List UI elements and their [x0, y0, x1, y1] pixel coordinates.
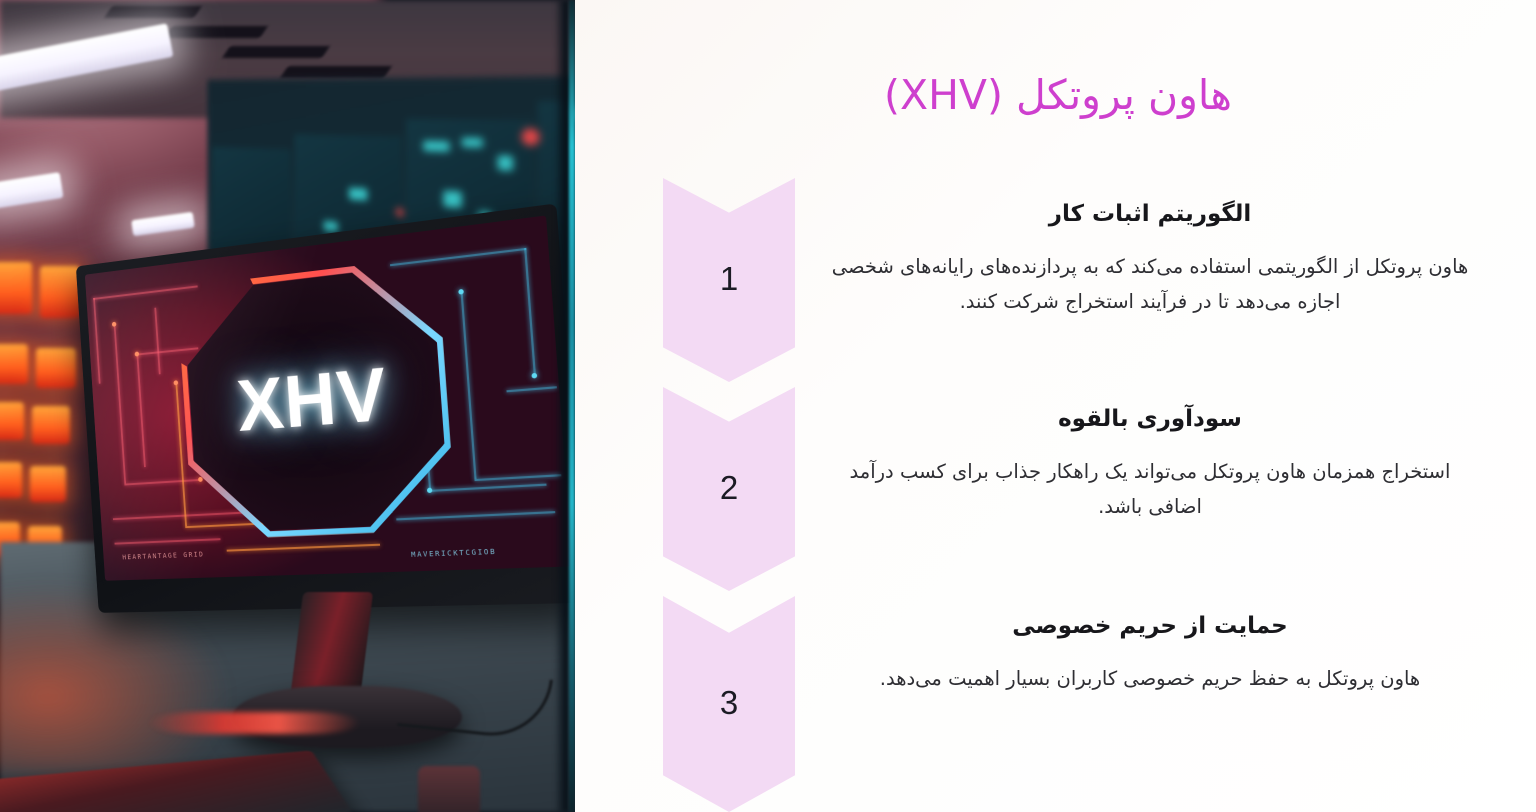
wall-data-blob [498, 155, 513, 170]
control-room-photo: XHV HEARTANTAGE GRID MAVERICKTCGIOB [0, 0, 575, 812]
circuit-trace [524, 248, 536, 375]
circuit-trace [124, 479, 200, 486]
slide-root: XHV HEARTANTAGE GRID MAVERICKTCGIOB هاون… [0, 0, 1536, 812]
content-panel: هاون پروتکل (XHV) 1 2 3 الگوریتم اثبات ک… [575, 0, 1536, 812]
ticker-cell [40, 266, 80, 318]
hero-image-panel: XHV HEARTANTAGE GRID MAVERICKTCGIOB [0, 0, 575, 812]
step-heading-2: سودآوری بالقوه [830, 405, 1470, 435]
circuit-trace [136, 353, 145, 467]
circuit-trace [93, 298, 100, 384]
wall-data-blob [423, 141, 449, 152]
step-number-3: 3 [720, 686, 738, 719]
circuit-pad [112, 322, 117, 327]
step-body-3: هاون پروتکل به حفظ حریم خصوصی کاربران بس… [830, 662, 1470, 697]
circuit-trace [227, 544, 380, 552]
ticker-cell [0, 462, 22, 498]
step-heading-3: حمایت از حریم خصوصی [830, 612, 1470, 642]
circuit-trace [396, 511, 555, 520]
step-chevron-1[interactable]: 1 [663, 178, 795, 382]
photo-right-shadow [555, 0, 569, 812]
desk-red-reflection [148, 712, 360, 734]
step-heading-1: الگوریتم اثبات کار [830, 200, 1470, 230]
monitor-screen: XHV HEARTANTAGE GRID MAVERICKTCGIOB [85, 215, 573, 580]
circuit-trace [115, 538, 221, 544]
circuit-trace [429, 484, 546, 492]
step-block-3: حمایت از حریم خصوصی هاون پروتکل به حفظ ح… [830, 612, 1470, 697]
xhv-logo: XHV [235, 351, 390, 448]
wall-data-blob [462, 138, 483, 148]
circuit-trace [136, 347, 198, 355]
circuit-pad [427, 488, 433, 493]
ticker-cell [0, 402, 24, 440]
step-chevron-2[interactable]: 2 [663, 387, 795, 591]
wall-alert-dot [522, 128, 540, 146]
step-block-2: سودآوری بالقوه استخراج همزمان هاون پروتک… [830, 405, 1470, 524]
step-number-2: 2 [720, 471, 738, 504]
ceiling-vent-2 [164, 26, 268, 38]
ceiling-vent-3 [222, 46, 330, 58]
circuit-trace [93, 285, 198, 299]
circuit-pad [198, 477, 203, 482]
page-title: هاون پروتکل (XHV) [648, 70, 1468, 121]
ticker-cell [0, 262, 32, 314]
circuit-trace [506, 386, 556, 392]
ticker-cell [36, 348, 76, 388]
circuit-trace [461, 291, 477, 479]
desktop-monitor: XHV HEARTANTAGE GRID MAVERICKTCGIOB [76, 203, 575, 613]
circuit-trace [113, 512, 246, 521]
circuit-pad [531, 373, 537, 379]
ticker-cell [30, 466, 66, 502]
circuit-trace [154, 308, 160, 375]
ceiling-vent-4 [280, 66, 392, 78]
circuit-pad [173, 380, 178, 385]
circuit-trace [390, 248, 526, 266]
screen-label-right: MAVERICKTCGIOB [411, 548, 497, 559]
circuit-trace [474, 474, 561, 481]
step-body-1: هاون پروتکل از الگوریتمی استفاده می‌کند … [830, 250, 1470, 319]
circuit-pad [458, 289, 464, 295]
circuit-trace [114, 324, 126, 484]
ticker-cell [0, 344, 28, 384]
step-body-2: استخراج همزمان هاون پروتکل می‌تواند یک ر… [830, 455, 1470, 524]
step-block-1: الگوریتم اثبات کار هاون پروتکل از الگوری… [830, 200, 1470, 319]
step-number-1: 1 [720, 262, 738, 295]
desktop-speaker [418, 766, 480, 812]
step-chevron-column: 1 2 3 [663, 178, 795, 812]
ticker-cell [32, 406, 70, 444]
step-chevron-3[interactable]: 3 [663, 596, 795, 812]
ceiling-vent-1 [104, 6, 202, 18]
circuit-pad [135, 351, 140, 356]
screen-label-left: HEARTANTAGE GRID [122, 551, 204, 562]
